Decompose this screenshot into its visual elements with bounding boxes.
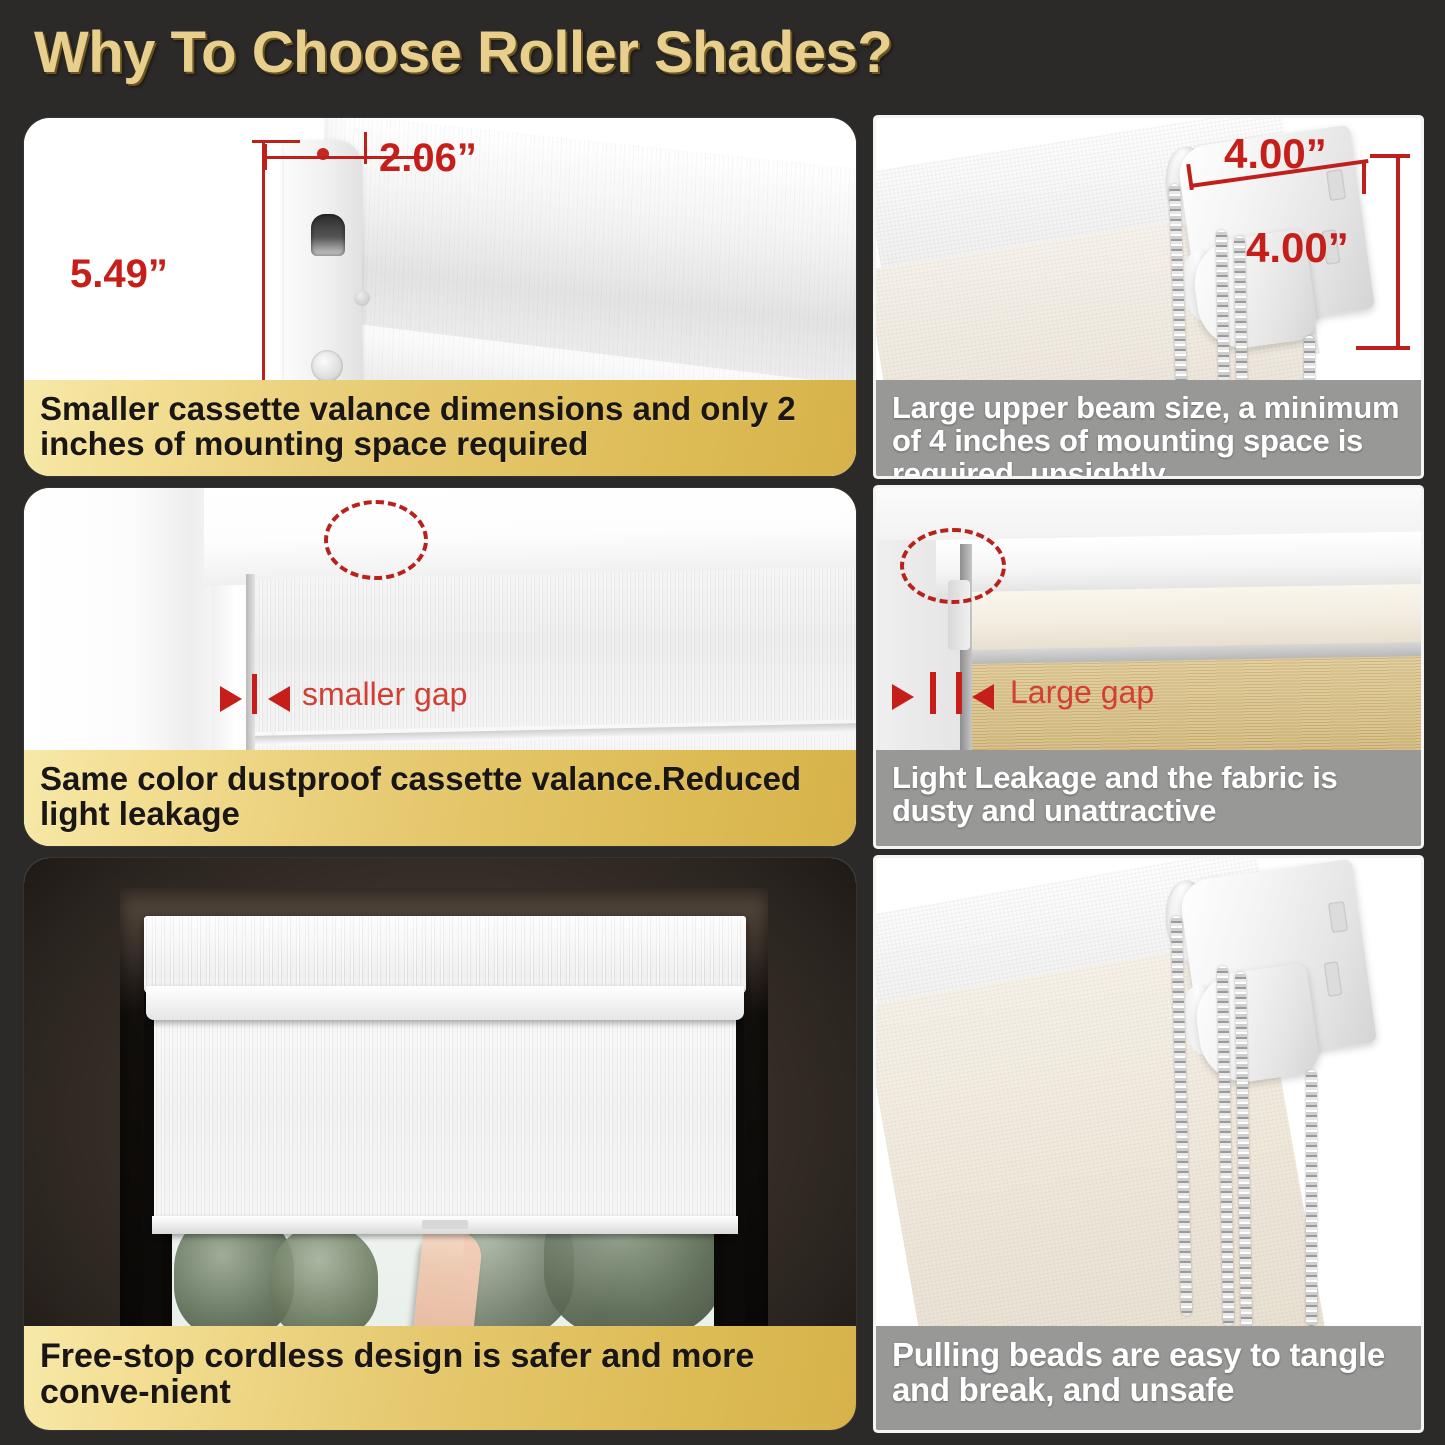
shade-pull-tab[interactable] — [422, 1220, 468, 1229]
panel-caption-large-gap: Light Leakage and the fabric is dusty an… — [876, 750, 1421, 846]
beam-height-tick-top — [1370, 154, 1410, 158]
cassette-valance-lip — [146, 986, 744, 1020]
page-header: Why To Choose Roller Shades? — [0, 0, 1445, 104]
panel-smaller-gap[interactable]: smaller gap Same color dustproof cassett… — [24, 488, 856, 846]
beam-height-label: 4.00” — [1246, 224, 1349, 272]
gap-arrow-right — [972, 684, 994, 710]
dashed-highlight-circle — [900, 528, 1006, 604]
tree-2 — [270, 1226, 378, 1338]
panel-caption-smaller-cassette: Smaller cassette valance dimensions and … — [24, 380, 856, 476]
smaller-gap-label: smaller gap — [302, 676, 467, 713]
bead-chain-4[interactable] — [1306, 1070, 1317, 1326]
width-dimension-label: 2.06” — [379, 136, 477, 181]
gap-arrow-right — [268, 686, 290, 712]
valance-screw — [311, 350, 343, 382]
panel-caption-pulling-beads: Pulling beads are easy to tangle and bre… — [876, 1326, 1421, 1430]
panel-large-upper-beam[interactable]: 4.00” 4.00” Large upper beam size, a min… — [876, 118, 1421, 476]
panel-caption-cordless-design: Free-stop cordless design is safer and m… — [24, 1326, 856, 1430]
panel-smaller-cassette[interactable]: 5.49” 2.06” Smaller cassette valance dim… — [24, 118, 856, 476]
gap-marker-bar — [252, 674, 257, 714]
height-dimension-label: 5.49” — [70, 252, 168, 297]
valance-bracket-hole — [311, 214, 345, 256]
shade-fabric — [154, 1014, 736, 1226]
gap-marker-bar-1 — [930, 672, 936, 714]
cassette-valance-head — [144, 916, 746, 994]
height-tick-top — [252, 140, 300, 143]
comparison-grid: 5.49” 2.06” Smaller cassette valance dim… — [0, 104, 1445, 1445]
gap-arrow-left — [892, 684, 914, 710]
page-title: Why To Choose Roller Shades? — [34, 19, 892, 86]
panel-pulling-beads[interactable]: Pulling beads are easy to tangle and bre… — [876, 858, 1421, 1430]
panel-caption-smaller-gap: Same color dustproof cassette valance.Re… — [24, 750, 856, 846]
large-gap-label: Large gap — [1010, 674, 1154, 711]
dashed-highlight-circle — [324, 500, 428, 580]
gap-marker-bar-2 — [956, 672, 962, 714]
panel-cordless-design[interactable]: Free-stop cordless design is safer and m… — [24, 858, 856, 1430]
beam-width-tick-right — [1362, 160, 1366, 194]
beam-width-label: 4.00” — [1224, 130, 1327, 178]
valance-screw-small — [354, 290, 370, 306]
width-tick-right — [364, 132, 367, 164]
beam-height-tick-bottom — [1356, 346, 1410, 350]
gap-arrow-left — [220, 686, 242, 712]
panel-caption-large-upper-beam: Large upper beam size, a minimum of 4 in… — [876, 380, 1421, 476]
width-tick-left — [264, 144, 267, 170]
panel-large-gap[interactable]: Large gap Light Leakage and the fabric i… — [876, 488, 1421, 846]
beam-height-dimension-line — [1396, 154, 1400, 350]
